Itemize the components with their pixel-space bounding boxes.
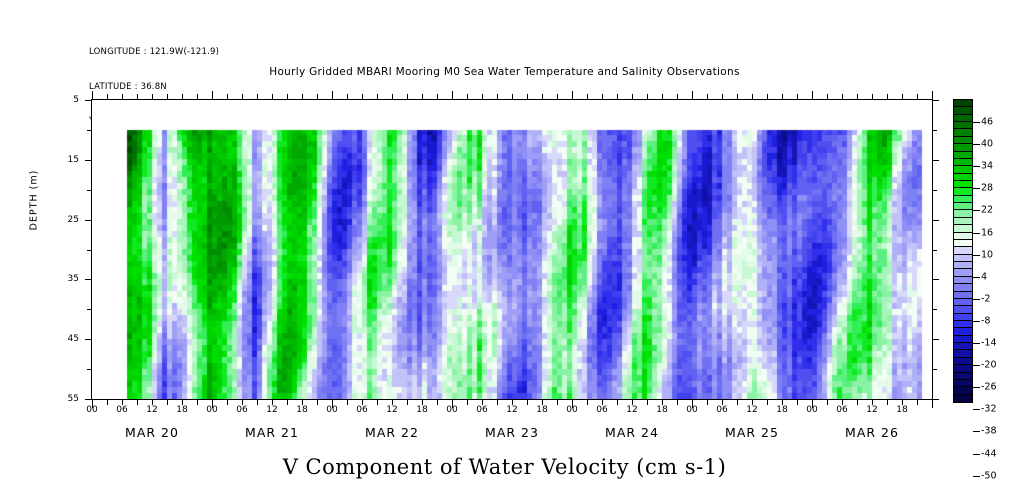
colorbar-tick <box>973 387 980 388</box>
colorbar-label: -20 <box>981 360 997 371</box>
tick-mark <box>85 100 91 101</box>
x-axis-day-labels: MAR 20MAR 21MAR 22MAR 23MAR 24MAR 25MAR … <box>91 425 933 445</box>
colorbar-tick <box>973 144 980 145</box>
tick-mark <box>85 160 91 161</box>
x-axis-hour-label: 12 <box>386 405 397 415</box>
tick-mark <box>377 94 378 99</box>
colorbar-tick <box>973 233 980 234</box>
colorbar-tick <box>973 122 980 123</box>
colorbar-swatch <box>954 292 972 299</box>
y-axis-labels: 51525354555 <box>40 99 85 400</box>
colorbar-swatch <box>954 203 972 210</box>
colorbar-swatch <box>954 269 972 276</box>
colorbar-swatch <box>954 343 972 350</box>
tick-mark <box>257 94 258 99</box>
tick-mark <box>677 94 678 99</box>
colorbar-swatch <box>954 225 972 232</box>
colorbar-swatch <box>954 373 972 380</box>
x-axis-hour-label: 06 <box>716 405 727 415</box>
tick-mark <box>302 94 303 99</box>
colorbar-swatch <box>954 166 972 173</box>
x-axis-hour-label: 00 <box>686 405 697 415</box>
x-axis-hour-label: 18 <box>416 405 427 415</box>
tick-mark <box>933 369 937 370</box>
colorbar-label: 22 <box>981 205 993 216</box>
tick-mark <box>827 94 828 99</box>
colorbar-labels: 464034282216104-2-8-14-20-26-32-38-44-50 <box>981 99 1009 403</box>
colorbar-swatch <box>954 152 972 159</box>
tick-mark <box>87 309 91 310</box>
x-axis-hour-label: 06 <box>596 405 607 415</box>
colorbar-swatch <box>954 159 972 166</box>
colorbar-label: 34 <box>981 161 993 172</box>
tick-mark <box>122 94 123 99</box>
tick-mark <box>872 94 873 99</box>
tick-mark <box>347 94 348 99</box>
tick-mark <box>497 94 498 99</box>
tick-mark <box>422 94 423 99</box>
x-axis-hour-label: 12 <box>866 405 877 415</box>
tick-mark <box>797 94 798 99</box>
x-axis-hour-label: 06 <box>236 405 247 415</box>
x-axis-hour-label: 12 <box>266 405 277 415</box>
colorbar-swatch <box>954 196 972 203</box>
colorbar-label: -2 <box>981 293 990 304</box>
x-axis-hour-label: 06 <box>836 405 847 415</box>
tick-mark <box>857 94 858 99</box>
y-axis-label: 35 <box>40 274 85 284</box>
y-axis-title: DEPTH (m) <box>29 170 40 231</box>
tick-mark <box>85 220 91 221</box>
tick-mark <box>287 94 288 99</box>
tick-mark <box>647 94 648 99</box>
tick-mark <box>602 94 603 99</box>
y-axis-label: 55 <box>40 394 85 404</box>
x-axis-day-label: MAR 22 <box>365 425 419 440</box>
colorbar-tick <box>973 321 980 322</box>
tick-mark <box>933 339 939 340</box>
tick-mark <box>87 190 91 191</box>
tick-mark <box>707 94 708 99</box>
colorbar-swatch <box>954 218 972 225</box>
y-axis-label: 5 <box>40 95 85 105</box>
tick-mark <box>512 94 513 99</box>
colorbar-ticks <box>973 99 981 403</box>
colorbar-label: 40 <box>981 139 993 150</box>
tick-mark <box>737 94 738 99</box>
x-axis-day-label: MAR 26 <box>845 425 899 440</box>
x-axis-day-label: MAR 21 <box>245 425 299 440</box>
longitude-text: LONGITUDE : 121.9W(-121.9) <box>89 47 219 59</box>
x-axis-hour-label: 00 <box>326 405 337 415</box>
colorbar-swatch <box>954 107 972 114</box>
tick-mark <box>542 94 543 99</box>
tick-mark <box>482 94 483 99</box>
tick-mark <box>933 250 937 251</box>
tick-mark <box>87 369 91 370</box>
colorbar-tick <box>973 343 980 344</box>
colorbar-label: -8 <box>981 315 990 326</box>
colorbar-swatch <box>954 247 972 254</box>
tick-mark <box>767 94 768 99</box>
colorbar-tick <box>973 210 980 211</box>
colorbar-swatch <box>954 299 972 306</box>
x-axis-day-label: MAR 23 <box>485 425 539 440</box>
colorbar-swatch <box>954 188 972 195</box>
tick-mark <box>272 94 273 99</box>
tick-mark <box>227 94 228 99</box>
x-axis-hour-label: 18 <box>536 405 547 415</box>
colorbar-label: 46 <box>981 117 993 128</box>
tick-mark <box>212 91 213 99</box>
colorbar-tick <box>973 431 980 432</box>
colorbar-swatch <box>954 306 972 313</box>
tick-mark <box>437 94 438 99</box>
colorbar-swatch <box>954 210 972 217</box>
colorbar-swatch <box>954 255 972 262</box>
tick-mark <box>662 94 663 99</box>
tick-mark <box>242 94 243 99</box>
tick-mark <box>917 94 918 99</box>
colorbar-label: 16 <box>981 227 993 238</box>
x-axis-hour-label: 12 <box>626 405 637 415</box>
colorbar-swatch <box>954 115 972 122</box>
x-axis-hour-label: 18 <box>296 405 307 415</box>
tick-mark <box>85 339 91 340</box>
tick-mark <box>107 94 108 99</box>
x-axis-day-label: MAR 25 <box>725 425 779 440</box>
colorbar-swatch <box>954 144 972 151</box>
colorbar-swatch <box>954 262 972 269</box>
chart-title: Hourly Gridded MBARI Mooring M0 Sea Wate… <box>0 66 1009 78</box>
x-axis-hour-label: 00 <box>566 405 577 415</box>
x-axis-hour-label: 00 <box>86 405 97 415</box>
tick-mark <box>452 91 453 99</box>
tick-mark <box>392 94 393 99</box>
colorbar-swatch <box>954 240 972 247</box>
tick-mark <box>587 94 588 99</box>
y-axis-label: 15 <box>40 155 85 165</box>
tick-mark <box>782 94 783 99</box>
tick-mark <box>182 94 183 99</box>
x-axis-hour-label: 12 <box>506 405 517 415</box>
x-axis-hour-label: 18 <box>776 405 787 415</box>
tick-mark <box>722 94 723 99</box>
tick-mark <box>467 94 468 99</box>
colorbar-swatch <box>954 174 972 181</box>
colorbar-swatch <box>954 321 972 328</box>
tick-mark <box>933 130 937 131</box>
x-axis-hour-labels: 0006121800061218000612180006121800061218… <box>91 405 933 419</box>
colorbar-swatch <box>954 387 972 394</box>
colorbar <box>953 99 973 403</box>
tick-mark <box>933 100 939 101</box>
latitude-text: LATITUDE : 36.8N <box>89 82 219 94</box>
colorbar-label: 10 <box>981 249 993 260</box>
tick-mark <box>85 399 91 400</box>
x-axis-hour-label: 12 <box>746 405 757 415</box>
tick-mark <box>933 190 937 191</box>
tick-mark <box>362 94 363 99</box>
colorbar-tick <box>973 409 980 410</box>
colorbar-swatch <box>954 100 972 107</box>
x-axis-hour-label: 00 <box>806 405 817 415</box>
tick-mark <box>317 94 318 99</box>
colorbar-tick <box>973 299 980 300</box>
tick-mark <box>887 94 888 99</box>
tick-mark <box>933 399 939 400</box>
tick-mark <box>85 279 91 280</box>
x-axis-hour-label: 06 <box>116 405 127 415</box>
x-axis-hour-label: 06 <box>356 405 367 415</box>
tick-mark <box>692 91 693 99</box>
tick-mark <box>87 130 91 131</box>
colorbar-swatch <box>954 350 972 357</box>
colorbar-swatch <box>954 129 972 136</box>
colorbar-tick <box>973 166 980 167</box>
tick-mark <box>407 94 408 99</box>
colorbar-tick <box>973 188 980 189</box>
tick-mark <box>332 91 333 99</box>
tick-mark <box>87 250 91 251</box>
colorbar-tick <box>973 277 980 278</box>
tick-mark <box>933 279 939 280</box>
colorbar-label: 28 <box>981 183 993 194</box>
tick-mark <box>632 94 633 99</box>
tick-mark <box>932 91 933 99</box>
x-axis-hour-label: 18 <box>656 405 667 415</box>
x-axis-hour-label: 00 <box>206 405 217 415</box>
tick-mark <box>92 91 93 99</box>
tick-mark <box>812 91 813 99</box>
colorbar-swatch <box>954 365 972 372</box>
colorbar-tick <box>973 255 980 256</box>
tick-mark <box>902 94 903 99</box>
colorbar-swatch <box>954 314 972 321</box>
colorbar-swatch <box>954 336 972 343</box>
colorbar-swatch <box>954 358 972 365</box>
x-axis-hour-label: 12 <box>146 405 157 415</box>
tick-mark <box>557 94 558 99</box>
colorbar-label: -32 <box>981 404 997 415</box>
colorbar-tick <box>973 365 980 366</box>
x-axis-hour-label: 18 <box>176 405 187 415</box>
colorbar-label: -26 <box>981 382 997 393</box>
tick-mark <box>137 94 138 99</box>
colorbar-swatch <box>954 284 972 291</box>
colorbar-swatch <box>954 122 972 129</box>
colorbar-swatch <box>954 395 972 402</box>
tick-mark <box>933 220 939 221</box>
tick-mark <box>167 94 168 99</box>
x-axis-hour-label: 18 <box>896 405 907 415</box>
y-axis-label: 25 <box>40 215 85 225</box>
tick-mark <box>933 309 937 310</box>
tick-mark <box>152 94 153 99</box>
tick-mark <box>527 94 528 99</box>
y-axis-label: 45 <box>40 334 85 344</box>
tick-mark <box>617 94 618 99</box>
x-axis-day-label: MAR 20 <box>125 425 179 440</box>
x-axis-day-label: MAR 24 <box>605 425 659 440</box>
x-axis-hour-label: 06 <box>476 405 487 415</box>
heatmap-canvas <box>92 100 932 399</box>
colorbar-swatch <box>954 137 972 144</box>
tick-mark <box>197 94 198 99</box>
heatmap-plot-area <box>91 99 933 400</box>
tick-mark <box>752 94 753 99</box>
colorbar-swatch <box>954 277 972 284</box>
colorbar-label: -14 <box>981 338 997 349</box>
colorbar-swatch <box>954 380 972 387</box>
colorbar-label: -38 <box>981 426 997 437</box>
chart-caption: V Component of Water Velocity (cm s-1) <box>0 455 1009 479</box>
tick-mark <box>572 91 573 99</box>
colorbar-swatch <box>954 233 972 240</box>
x-axis-hour-label: 00 <box>446 405 457 415</box>
colorbar-label: 4 <box>981 271 987 282</box>
colorbar-swatch <box>954 181 972 188</box>
tick-mark <box>842 94 843 99</box>
colorbar-swatch <box>954 328 972 335</box>
tick-mark <box>933 160 939 161</box>
